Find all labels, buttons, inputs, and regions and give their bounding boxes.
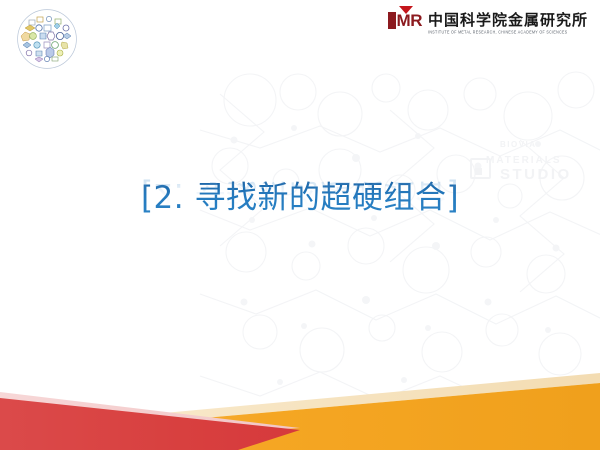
title-block: [2. 寻找新的超硬组合] [2. 寻找新的超硬组合] — [0, 176, 600, 260]
imr-monogram-icon: MR — [388, 12, 422, 29]
imr-name-block: 中国科学院金属研究所 INSTITUTE OF METAL RESEARCH, … — [428, 12, 588, 35]
presentation-slide: BIOVIA MATERIALS STUDIO — [0, 0, 600, 450]
imr-english-name: INSTITUTE OF METAL RESEARCH, CHINESE ACA… — [428, 29, 588, 36]
molecular-collage-logo-icon — [16, 8, 78, 70]
imr-institution-logo: MR 中国科学院金属研究所 INSTITUTE OF METAL RESEARC… — [388, 12, 588, 35]
watermark-brand: BIOVIA — [500, 140, 537, 149]
page-title: [2. 寻找新的超硬组合] — [141, 176, 459, 220]
imr-chinese-name: 中国科学院金属研究所 — [428, 12, 588, 28]
imr-bar-glyph — [388, 12, 396, 29]
watermark-badge-icon — [470, 158, 491, 179]
watermark-molecule-pattern — [190, 70, 600, 420]
imr-triangle-accent-icon — [399, 6, 413, 14]
bottom-decoration-shapes — [0, 370, 600, 450]
bottom-decoration — [0, 370, 600, 450]
imr-letters: MR — [397, 12, 422, 29]
watermark-line-materials: MATERIALS — [486, 155, 562, 166]
page-title-reflection: [2. 寻找新的超硬组合] — [0, 172, 600, 216]
watermark-line-studio: STUDIO — [500, 166, 572, 183]
